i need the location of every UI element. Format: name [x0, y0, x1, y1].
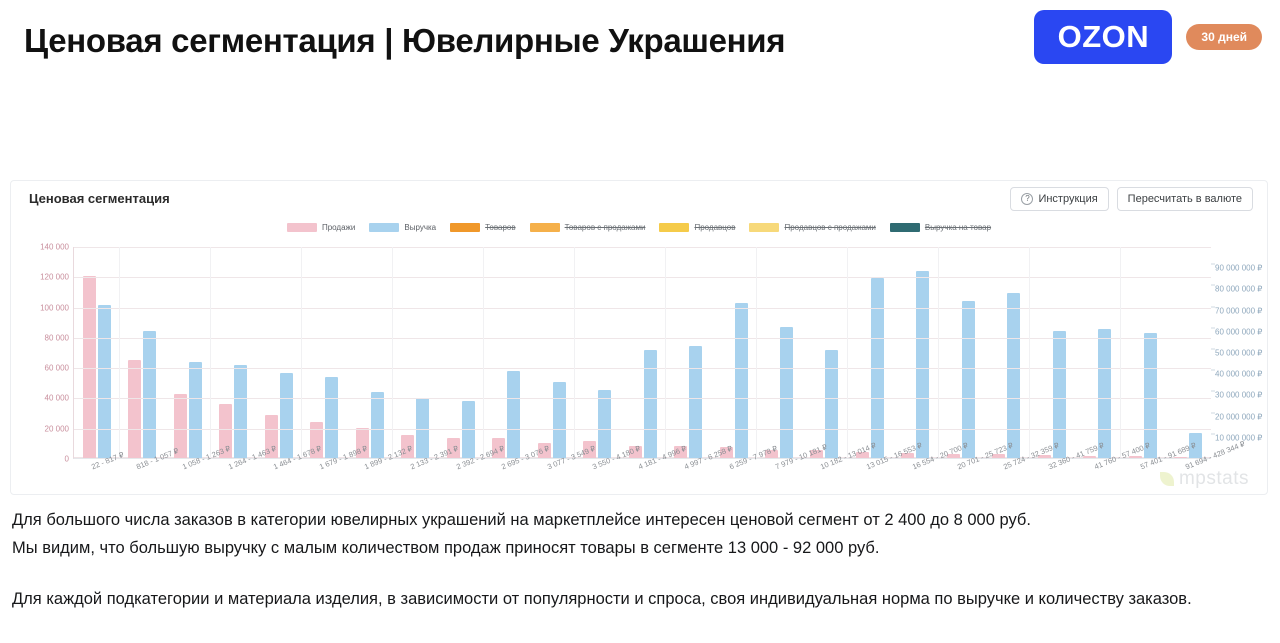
bar-group[interactable]: [119, 247, 164, 458]
legend-swatch-icon: [369, 223, 399, 232]
gridline-vertical: [119, 247, 120, 458]
bar-revenue[interactable]: [1053, 331, 1066, 458]
legend-swatch-icon: [749, 223, 779, 232]
legend-swatch-icon: [890, 223, 920, 232]
bar-group[interactable]: [938, 247, 983, 458]
axis-tick-mark: [1211, 306, 1215, 307]
bar-group[interactable]: [620, 247, 665, 458]
axis-tick-mark: [1211, 264, 1215, 265]
bar-revenue[interactable]: [780, 327, 793, 458]
bar-group[interactable]: [984, 247, 1029, 458]
legend-label: Продавцов с продажами: [784, 223, 875, 232]
legend-item-2[interactable]: Товаров: [450, 223, 515, 232]
bar-revenue[interactable]: [507, 371, 520, 458]
gridline-vertical: [392, 247, 393, 458]
ozon-logo-text: OZON: [1058, 19, 1150, 55]
bar-revenue[interactable]: [598, 390, 611, 458]
bar-group[interactable]: [392, 247, 437, 458]
legend-swatch-icon: [659, 223, 689, 232]
legend-label: Выручка: [404, 223, 436, 232]
bar-revenue[interactable]: [1144, 333, 1157, 458]
bar-group[interactable]: [256, 247, 301, 458]
bar-revenue[interactable]: [825, 350, 838, 458]
axis-tick-mark: [1211, 370, 1215, 371]
bar-group[interactable]: [1166, 247, 1211, 458]
bar-revenue[interactable]: [325, 377, 338, 458]
bar-revenue[interactable]: [98, 305, 111, 458]
y-axis-left-tick: 120 000: [40, 273, 69, 282]
leaf-icon: [1160, 472, 1174, 486]
bar-sales[interactable]: [83, 276, 96, 458]
legend-swatch-icon: [287, 223, 317, 232]
legend-label: Товаров: [485, 223, 515, 232]
recalc-currency-button-label: Пересчитать в валюте: [1128, 194, 1242, 205]
y-axis-right: 10 000 000 ₽20 000 000 ₽30 000 000 ₽40 0…: [1215, 247, 1267, 459]
ozon-logo: OZON: [1034, 10, 1172, 64]
x-axis: 22 - 817 ₽818 - 1 057 ₽1 058 - 1 263 ₽1 …: [73, 461, 1211, 497]
y-axis-left-tick: 80 000: [45, 333, 69, 342]
brand-block: OZON 30 дней: [1034, 10, 1262, 64]
legend-label: Продажи: [322, 223, 355, 232]
plot-area: 020 00040 00060 00080 000100 000120 0001…: [11, 241, 1267, 486]
bar-group[interactable]: [301, 247, 346, 458]
bar-revenue[interactable]: [735, 303, 748, 458]
y-axis-left-tick: 20 000: [45, 424, 69, 433]
y-axis-left: 020 00040 00060 00080 000100 000120 0001…: [11, 247, 69, 459]
y-axis-left-tick: 60 000: [45, 364, 69, 373]
bar-group[interactable]: [1075, 247, 1120, 458]
gridline-horizontal: [74, 429, 1211, 430]
axis-tick-mark: [1211, 412, 1215, 413]
gridline-vertical: [210, 247, 211, 458]
gridline-horizontal: [74, 308, 1211, 309]
gridline-horizontal: [74, 338, 1211, 339]
gridline-vertical: [1029, 247, 1030, 458]
bar-revenue[interactable]: [1007, 293, 1020, 458]
question-circle-icon: ?: [1021, 193, 1033, 205]
gridline-horizontal: [74, 277, 1211, 278]
bar-group[interactable]: [210, 247, 255, 458]
bar-revenue[interactable]: [689, 346, 702, 458]
bar-revenue[interactable]: [234, 365, 247, 458]
bar-group[interactable]: [711, 247, 756, 458]
chart-title: Ценовая сегментация: [29, 191, 170, 206]
y-axis-right-tick: 20 000 000 ₽: [1215, 412, 1262, 421]
bar-revenue[interactable]: [280, 373, 293, 458]
watermark-text: mpstats: [1179, 468, 1249, 490]
legend-swatch-icon: [530, 223, 560, 232]
gridline-vertical: [301, 247, 302, 458]
legend-item-4[interactable]: Продавцов: [659, 223, 735, 232]
axis-tick-mark: [1211, 391, 1215, 392]
paragraph-1: Для большого числа заказов в категории ю…: [12, 508, 1270, 534]
bar-group[interactable]: [347, 247, 392, 458]
y-axis-right-tick: 90 000 000 ₽: [1215, 264, 1262, 273]
page-title: Ценовая сегментация | Ювелирные Украшени…: [24, 22, 785, 60]
bar-group[interactable]: [893, 247, 938, 458]
bar-revenue[interactable]: [916, 271, 929, 458]
bar-group[interactable]: [802, 247, 847, 458]
page-root: Ценовая сегментация | Ювелирные Украшени…: [0, 0, 1280, 643]
bar-revenue[interactable]: [371, 392, 384, 458]
bar-revenue[interactable]: [189, 362, 202, 458]
period-badge: 30 дней: [1186, 24, 1262, 50]
gridline-vertical: [665, 247, 666, 458]
instruction-button[interactable]: ? Инструкция: [1010, 187, 1108, 211]
bar-group[interactable]: [847, 247, 892, 458]
chart-toolbar: ? Инструкция Пересчитать в валюте: [1010, 187, 1253, 211]
legend-label: Выручка на товар: [925, 223, 991, 232]
paragraph-3: Для каждой подкатегории и материала изде…: [12, 587, 1270, 613]
bar-revenue[interactable]: [644, 350, 657, 458]
plot-canvas: [73, 247, 1211, 459]
legend-item-5[interactable]: Продавцов с продажами: [749, 223, 875, 232]
y-axis-right-tick: 50 000 000 ₽: [1215, 349, 1262, 358]
bar-group[interactable]: [665, 247, 710, 458]
axis-tick-mark: [1211, 327, 1215, 328]
y-axis-right-tick: 60 000 000 ₽: [1215, 327, 1262, 336]
gridline-vertical: [938, 247, 939, 458]
bar-group[interactable]: [1029, 247, 1074, 458]
legend-item-0[interactable]: Продажи: [287, 223, 355, 232]
bar-group[interactable]: [574, 247, 619, 458]
bar-sales[interactable]: [128, 360, 141, 458]
paragraph-2: Мы видим, что большую выручку с малым ко…: [12, 536, 1270, 562]
y-axis-right-tick: 70 000 000 ₽: [1215, 306, 1262, 315]
gridline-vertical: [574, 247, 575, 458]
chart-legend[interactable]: ПродажиВыручкаТоваровТоваров с продажами…: [11, 219, 1267, 235]
gridline-horizontal: [74, 368, 1211, 369]
y-axis-left-tick: 100 000: [40, 303, 69, 312]
y-axis-right-tick: 30 000 000 ₽: [1215, 391, 1262, 400]
bar-revenue[interactable]: [962, 301, 975, 458]
bar-group[interactable]: [1120, 247, 1165, 458]
bar-group[interactable]: [483, 247, 528, 458]
chart-card: Ценовая сегментация ? Инструкция Пересчи…: [10, 180, 1268, 495]
gridline-horizontal: [74, 247, 1211, 248]
legend-item-3[interactable]: Товаров с продажами: [530, 223, 646, 232]
legend-item-6[interactable]: Выручка на товар: [890, 223, 991, 232]
recalc-currency-button[interactable]: Пересчитать в валюте: [1117, 187, 1253, 211]
y-axis-right-tick: 80 000 000 ₽: [1215, 285, 1262, 294]
instruction-button-label: Инструкция: [1038, 194, 1097, 205]
bar-revenue[interactable]: [143, 331, 156, 458]
chart-card-header: Ценовая сегментация ? Инструкция Пересчи…: [11, 181, 1267, 215]
y-axis-left-tick: 140 000: [40, 243, 69, 252]
bar-group[interactable]: [165, 247, 210, 458]
legend-label: Товаров с продажами: [565, 223, 646, 232]
mpstats-watermark: mpstats: [1160, 468, 1249, 490]
legend-item-1[interactable]: Выручка: [369, 223, 436, 232]
gridline-vertical: [756, 247, 757, 458]
body-copy: Для большого числа заказов в категории ю…: [12, 508, 1270, 613]
bar-group[interactable]: [529, 247, 574, 458]
legend-swatch-icon: [450, 223, 480, 232]
bar-revenue[interactable]: [1098, 329, 1111, 458]
gridline-vertical: [483, 247, 484, 458]
y-axis-left-tick: 0: [65, 455, 69, 464]
gridline-vertical: [847, 247, 848, 458]
axis-tick-mark: [1211, 285, 1215, 286]
bar-group[interactable]: [756, 247, 801, 458]
legend-label: Продавцов: [694, 223, 735, 232]
axis-tick-mark: [1211, 349, 1215, 350]
bar-group[interactable]: [74, 247, 119, 458]
y-axis-right-tick: 40 000 000 ₽: [1215, 370, 1262, 379]
gridline-vertical: [1120, 247, 1121, 458]
y-axis-left-tick: 40 000: [45, 394, 69, 403]
gridline-horizontal: [74, 398, 1211, 399]
axis-tick-mark: [1211, 433, 1215, 434]
bar-groups: [74, 247, 1211, 458]
bar-group[interactable]: [438, 247, 483, 458]
bar-revenue[interactable]: [553, 382, 566, 458]
